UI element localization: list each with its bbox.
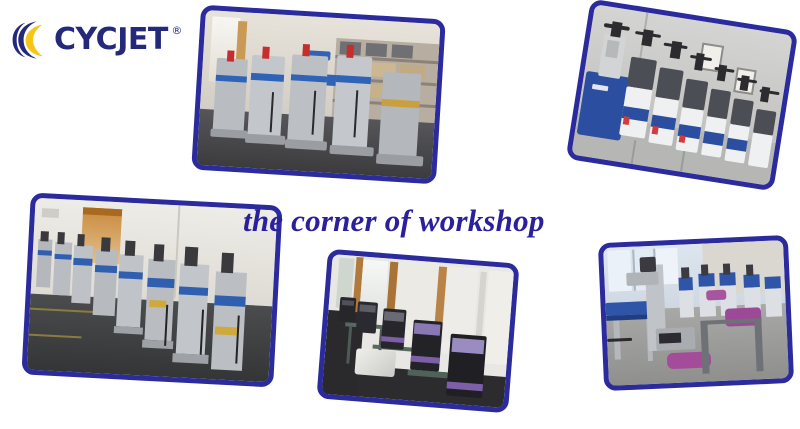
brand-wordmark: CYCJET ® xyxy=(54,25,168,55)
photo-content-workshop-laser-carts-top xyxy=(196,10,440,179)
photo-content-conveyor-assembly xyxy=(603,240,789,386)
photo-frame-blue-marking-machines[interactable] xyxy=(566,0,799,191)
photo-frame-workshop-laser-carts-top[interactable] xyxy=(191,5,446,185)
cycjet-logo: CYCJET ® xyxy=(12,18,197,62)
photo-content-blue-marking-machines xyxy=(571,4,792,185)
photo-frame-inkjet-printers-window[interactable] xyxy=(316,249,519,414)
photo-content-inkjet-printers-window xyxy=(322,254,514,408)
photo-content-long-row-carts xyxy=(27,198,278,382)
cycjet-logo-icon xyxy=(12,20,58,60)
photo-frame-conveyor-assembly[interactable] xyxy=(598,235,794,391)
brand-name: CYCJET xyxy=(54,22,168,57)
slide-canvas: CYCJET ® xyxy=(0,0,800,429)
page-title: the corner of workshop xyxy=(243,205,603,236)
registered-trademark-icon: ® xyxy=(171,25,182,36)
